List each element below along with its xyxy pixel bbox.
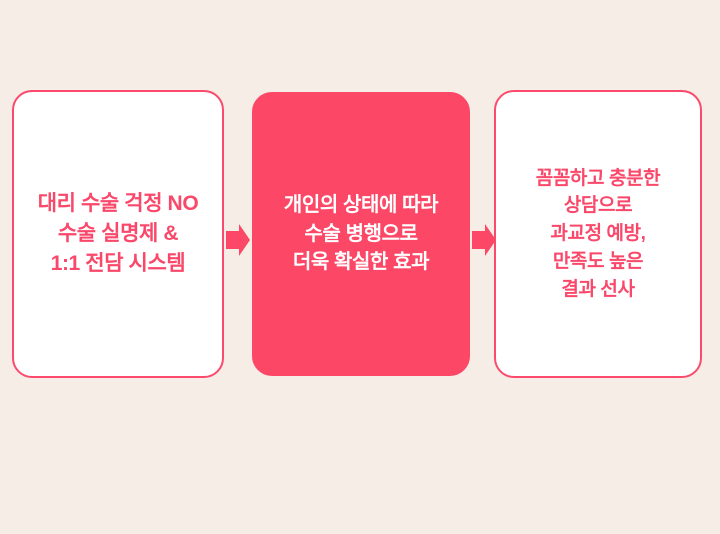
arrow-right-icon-1 <box>225 220 251 260</box>
step-card-1: 대리 수술 걱정 NO 수술 실명제 & 1:1 전담 시스템 <box>12 90 224 378</box>
step-card-1-text: 대리 수술 걱정 NO 수술 실명제 & 1:1 전담 시스템 <box>32 189 205 278</box>
step-card-2: 개인의 상태에 따라 수술 병행으로 더욱 확실한 효과 <box>252 92 470 376</box>
infographic-stage: 대리 수술 걱정 NO 수술 실명제 & 1:1 전담 시스템 개인의 상태에 … <box>0 0 720 534</box>
step-card-3: 꼼꼼하고 충분한 상담으로 과교정 예방, 만족도 높은 결과 선사 <box>494 90 702 378</box>
step-card-3-text: 꼼꼼하고 충분한 상담으로 과교정 예방, 만족도 높은 결과 선사 <box>530 165 666 304</box>
step-card-2-text: 개인의 상태에 따라 수술 병행으로 더욱 확실한 효과 <box>278 191 444 276</box>
